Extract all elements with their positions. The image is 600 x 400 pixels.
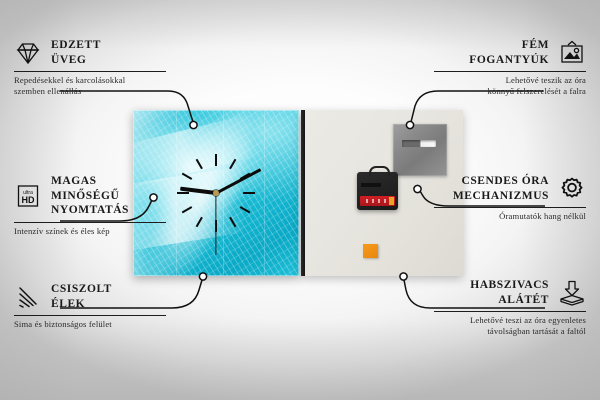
feature-divider — [434, 71, 586, 72]
foam-spacer-pad — [363, 244, 378, 258]
feature-magas-minosegu-nyomtatas: ultra HD MAGAS MINŐSÉGŰ NYOMTATÁS Intenz… — [14, 174, 166, 237]
feature-title: EDZETT ÜVEG — [51, 38, 101, 67]
battery-terminal — [389, 197, 394, 205]
feature-divider — [434, 207, 586, 208]
feature-divider — [434, 311, 586, 312]
infographic-canvas: EDZETT ÜVEG Repedésekkel és karcolásokka… — [0, 0, 600, 400]
feature-divider — [14, 315, 166, 316]
feature-title: HABSZIVACS ALÁTÉT — [470, 278, 549, 307]
foam-pad-arrow-icon — [558, 280, 586, 306]
hanger-slot — [402, 140, 436, 147]
feature-title: FÉM FOGANTYÚK — [469, 38, 549, 67]
mechanism-vent — [361, 183, 381, 187]
diamond-icon — [14, 40, 42, 66]
battery — [360, 196, 395, 206]
feature-header: HABSZIVACS ALÁTÉT — [434, 278, 586, 307]
feature-habszivacs-alatet: HABSZIVACS ALÁTÉT Lehetővé teszi az óra … — [434, 278, 586, 337]
svg-text:HD: HD — [22, 195, 35, 205]
mechanism-hook — [369, 166, 390, 176]
feature-header: CSENDES ÓRA MECHANIZMUS — [434, 174, 586, 203]
feature-title: MAGAS MINŐSÉGŰ NYOMTATÁS — [51, 174, 166, 218]
feature-header: FÉM FOGANTYÚK — [434, 38, 586, 67]
feature-csendes-ora-mechanizmus: CSENDES ÓRA MECHANIZMUS Óramutatók hang … — [434, 174, 586, 222]
feature-divider — [14, 222, 166, 223]
feature-header: CSISZOLT ÉLEK — [14, 282, 166, 311]
feature-header: ultra HD MAGAS MINŐSÉGŰ NYOMTATÁS — [14, 174, 166, 218]
feature-edzett-uveg: EDZETT ÜVEG Repedésekkel és karcolásokka… — [14, 38, 166, 97]
feature-header: EDZETT ÜVEG — [14, 38, 166, 67]
picture-hanger-icon — [558, 40, 586, 66]
polished-edges-icon — [14, 284, 42, 310]
panel-side-edge — [301, 110, 305, 276]
feature-title: CSENDES ÓRA MECHANIZMUS — [453, 174, 549, 203]
clock-mechanism — [357, 172, 398, 210]
gear-icon — [558, 176, 586, 202]
ultra-hd-icon: ultra HD — [14, 183, 42, 209]
feature-fem-fogantyuk: FÉM FOGANTYÚK Lehetővé teszik az óra kön… — [434, 38, 586, 97]
feature-divider — [14, 71, 166, 72]
feature-title: CSISZOLT ÉLEK — [51, 282, 112, 311]
feature-csiszolt-elek: CSISZOLT ÉLEK Sima és biztonságos felüle… — [14, 282, 166, 330]
